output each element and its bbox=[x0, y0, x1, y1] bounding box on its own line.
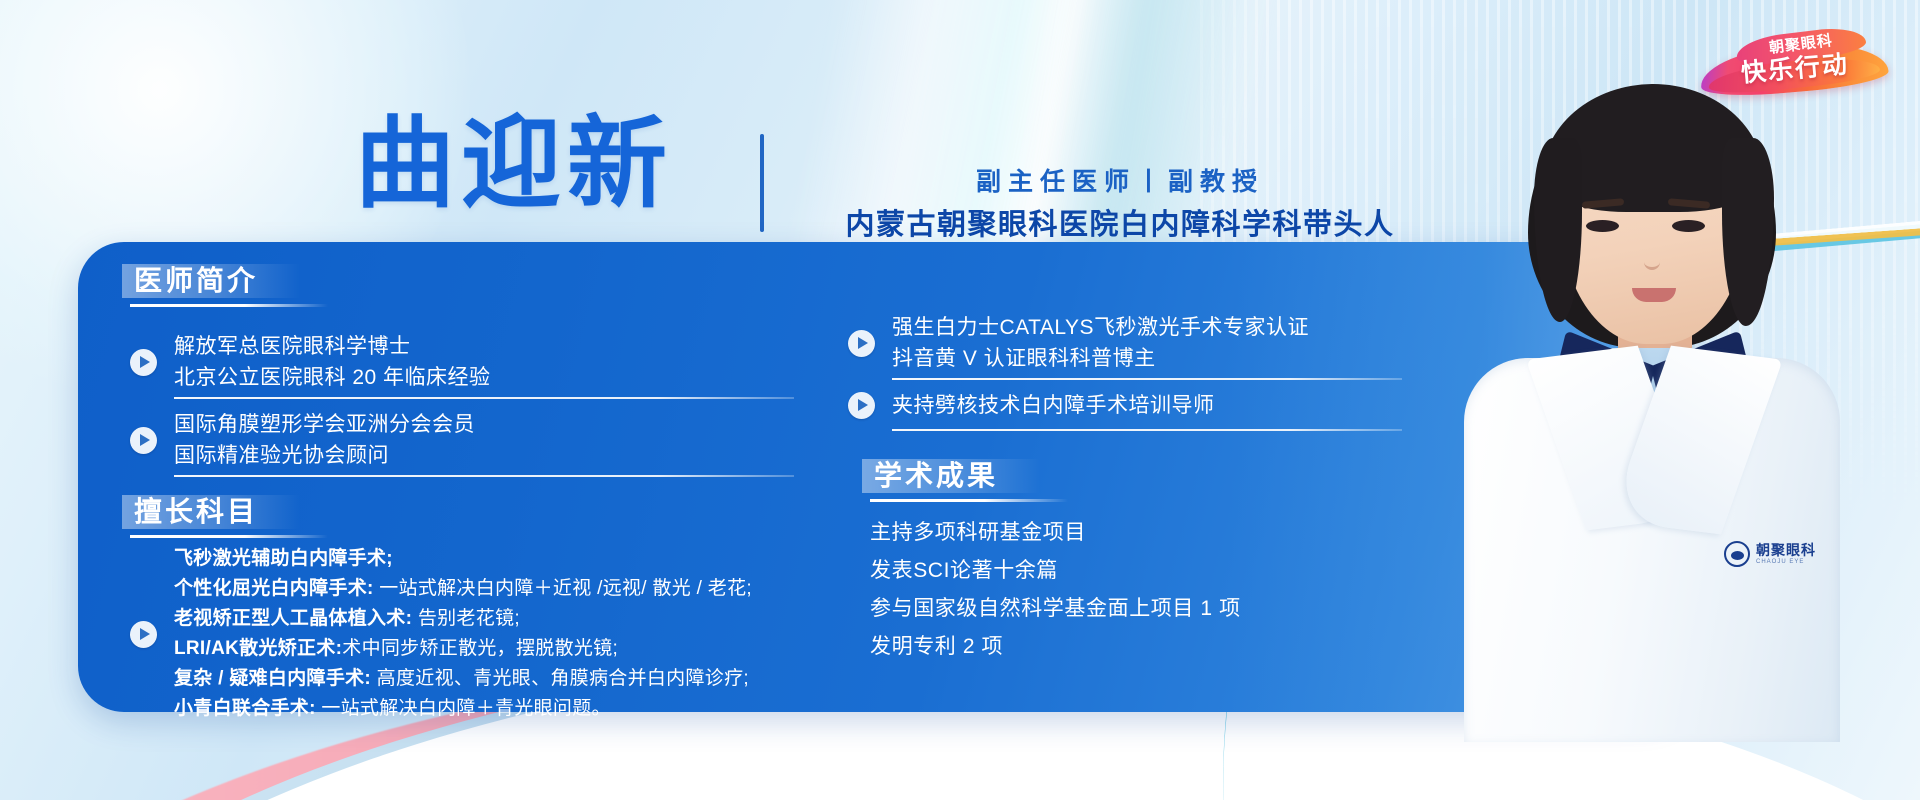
list-item: 主持多项科研基金项目 bbox=[870, 514, 1428, 552]
coat-logo-subtext: CHAOJU EYE bbox=[1756, 558, 1816, 566]
specialty-detail: 高度近视、青光眼、角膜病合并白内障诊疗; bbox=[377, 668, 749, 689]
list-item: 个性化屈光白内障手术: 一站式解决白内障＋近视 /远视/ 散光 / 老花; bbox=[174, 574, 830, 604]
eye-logo-icon bbox=[1724, 541, 1750, 567]
banner-stage: 曲迎新 副主任医师丨副教授 内蒙古朝聚眼科医院白内障科学科带头人 朝聚眼科 快乐… bbox=[0, 0, 1920, 800]
bullet-line: 北京公立医院眼科 20 年临床经验 bbox=[174, 362, 830, 393]
section-heading-label: 医师简介 bbox=[130, 260, 328, 302]
play-triangle-icon bbox=[130, 621, 157, 648]
doctor-portrait: 朝聚眼科 CHAOJU EYE bbox=[1442, 52, 1862, 742]
header: 曲迎新 副主任医师丨副教授 内蒙古朝聚眼科医院白内障科学科带头人 bbox=[0, 54, 1460, 199]
list-item: 解放军总医院眼科学博士 北京公立医院眼科 20 年临床经验 bbox=[130, 331, 830, 393]
list-item: 老视矫正型人工晶体植入术: 告别老花镜; bbox=[174, 604, 830, 634]
section-heading-rule bbox=[130, 535, 328, 538]
bullet-line: 抖音黄 V 认证眼科科普博主 bbox=[892, 343, 1428, 374]
play-triangle-icon bbox=[130, 427, 157, 454]
specialty-term: 小青白联合手术: bbox=[174, 698, 316, 719]
list-item: LRI/AK散光矫正术:术中同步矫正散光，摆脱散光镜; bbox=[174, 634, 830, 664]
eye-right bbox=[1672, 220, 1705, 232]
bullet-line: 夹持劈核技术白内障手术培训导师 bbox=[892, 390, 1428, 421]
coat-logo-text-group: 朝聚眼科 CHAOJU EYE bbox=[1756, 543, 1816, 566]
list-item: 小青白联合手术: 一站式解决白内障＋青光眼问题。 bbox=[174, 694, 830, 724]
list-item: 飞秒激光辅助白内障手术; bbox=[174, 544, 830, 574]
hair-right bbox=[1722, 138, 1774, 326]
section-heading-label: 学术成果 bbox=[870, 455, 1068, 497]
bullet-line: 国际精准验光协会顾问 bbox=[174, 440, 830, 471]
specialty-term: 个性化屈光白内障手术: bbox=[174, 578, 374, 599]
bullet-line: 国际角膜塑形学会亚洲分会会员 bbox=[174, 409, 830, 440]
list-item: 国际角膜塑形学会亚洲分会会员 国际精准验光协会顾问 bbox=[130, 409, 830, 471]
eye-left bbox=[1586, 220, 1619, 232]
panel-right-column: 强生白力士CATALYS飞秒激光手术专家认证 抖音黄 V 认证眼科科普博主 夹持… bbox=[848, 242, 1428, 666]
list-item: 发表SCI论著十余篇 bbox=[870, 552, 1428, 590]
bullet-text-group: 解放军总医院眼科学博士 北京公立医院眼科 20 年临床经验 bbox=[174, 331, 830, 393]
name-divider bbox=[760, 134, 764, 232]
bullet-line: 解放军总医院眼科学博士 bbox=[174, 331, 830, 362]
list-item: 强生白力士CATALYS飞秒激光手术专家认证 抖音黄 V 认证眼科科普博主 bbox=[848, 312, 1428, 374]
specialty-detail: 一站式解决白内障＋近视 /远视/ 散光 / 老花; bbox=[379, 578, 752, 599]
section-heading-rule bbox=[870, 499, 1068, 502]
section-heading-rule bbox=[130, 304, 328, 307]
coat-logo: 朝聚眼科 CHAOJU EYE bbox=[1724, 538, 1854, 570]
academic-list: 主持多项科研基金项目 发表SCI论著十余篇 参与国家级自然科学基金面上项目 1 … bbox=[870, 514, 1428, 666]
panel-left-column: 医师简介 解放军总医院眼科学博士 北京公立医院眼科 20 年临床经验 bbox=[130, 242, 830, 724]
bullet-text-group: 国际角膜塑形学会亚洲分会会员 国际精准验光协会顾问 bbox=[174, 409, 830, 471]
section-heading-profile: 医师简介 bbox=[130, 260, 328, 307]
specialty-detail: 一站式解决白内障＋青光眼问题。 bbox=[321, 698, 611, 719]
section-heading-academic: 学术成果 bbox=[870, 455, 1068, 502]
section-heading-label: 擅长科目 bbox=[130, 491, 328, 533]
divider bbox=[892, 378, 1402, 380]
specialty-term: LRI/AK散光矫正术: bbox=[174, 638, 342, 659]
doctor-name: 曲迎新 bbox=[355, 112, 673, 216]
specialty-term: 老视矫正型人工晶体植入术: bbox=[174, 608, 412, 629]
list-item: 参与国家级自然科学基金面上项目 1 项 bbox=[870, 590, 1428, 628]
play-triangle-icon bbox=[848, 392, 875, 419]
list-item: 发明专利 2 项 bbox=[870, 628, 1428, 666]
specialty-term: 复杂 / 疑难白内障手术: bbox=[174, 668, 371, 689]
list-item: 夹持劈核技术白内障手术培训导师 bbox=[848, 390, 1428, 421]
divider bbox=[892, 429, 1402, 431]
specialty-lines: 飞秒激光辅助白内障手术; 个性化屈光白内障手术: 一站式解决白内障＋近视 /远视… bbox=[174, 544, 830, 724]
bullet-text-group: 夹持劈核技术白内障手术培训导师 bbox=[892, 390, 1428, 421]
section-heading-specialty: 擅长科目 bbox=[130, 491, 328, 538]
play-triangle-icon bbox=[130, 349, 157, 376]
divider bbox=[174, 475, 794, 477]
nose bbox=[1644, 248, 1660, 270]
doctor-organization: 内蒙古朝聚眼科医院白内障科学科带头人 bbox=[800, 207, 1440, 243]
bullet-line: 强生白力士CATALYS飞秒激光手术专家认证 bbox=[892, 312, 1428, 343]
list-item: 复杂 / 疑难白内障手术: 高度近视、青光眼、角膜病合并白内障诊疗; bbox=[174, 664, 830, 694]
specialty-list: 飞秒激光辅助白内障手术; 个性化屈光白内障手术: 一站式解决白内障＋近视 /远视… bbox=[130, 544, 830, 724]
play-triangle-icon bbox=[848, 330, 875, 357]
coat-logo-text: 朝聚眼科 bbox=[1756, 543, 1816, 558]
doctor-role-title: 副主任医师丨副教授 bbox=[800, 166, 1440, 198]
divider bbox=[174, 397, 794, 399]
specialty-detail: 术中同步矫正散光，摆脱散光镜; bbox=[342, 638, 618, 659]
specialty-detail: 告别老花镜; bbox=[418, 608, 520, 629]
bullet-text-group: 强生白力士CATALYS飞秒激光手术专家认证 抖音黄 V 认证眼科科普博主 bbox=[892, 312, 1428, 374]
specialty-term: 飞秒激光辅助白内障手术; bbox=[174, 548, 393, 569]
title-block: 副主任医师丨副教授 内蒙古朝聚眼科医院白内障科学科带头人 bbox=[800, 166, 1440, 243]
